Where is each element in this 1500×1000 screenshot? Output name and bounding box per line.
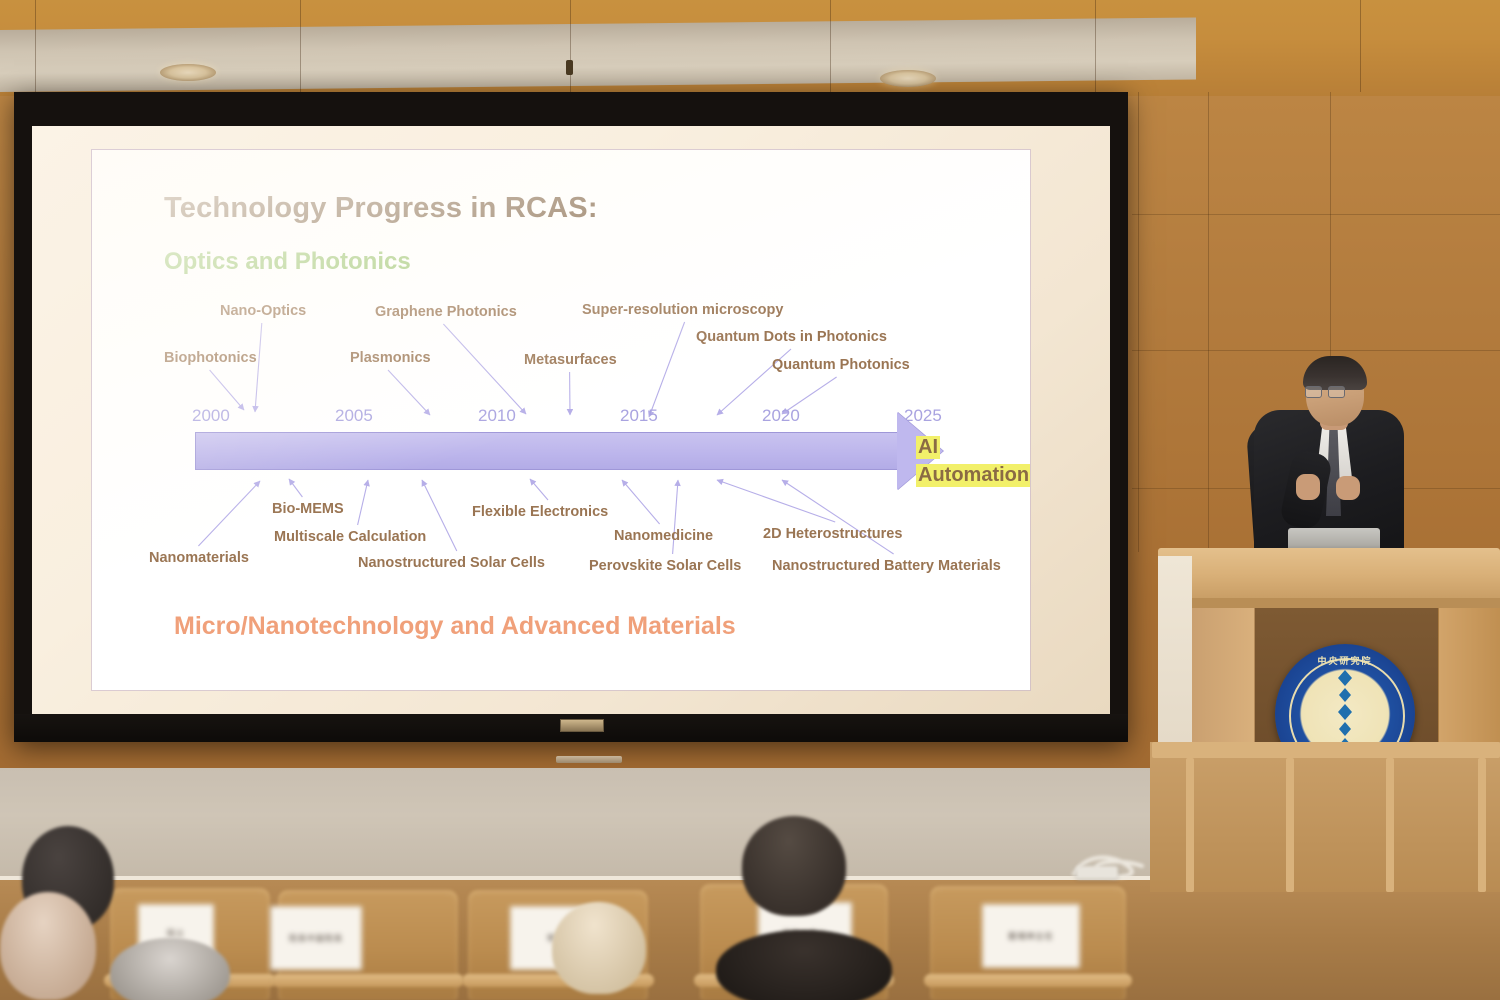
timeline-arrow-bar xyxy=(195,432,905,470)
speaker-hand-left xyxy=(1296,474,1320,500)
timeline-label: 2D Heterostructures xyxy=(763,526,902,542)
timeline-year-2000: 2000 xyxy=(192,406,230,426)
wall-seam xyxy=(1132,214,1500,215)
seat-name-placard: 院長中副院長 xyxy=(270,906,362,970)
chair-armrest xyxy=(924,974,1132,987)
railing-post xyxy=(1478,758,1486,892)
ceiling-sensor-icon xyxy=(566,60,573,75)
slide-subtitle-nanotech: Micro/Nanotechnology and Advanced Materi… xyxy=(174,612,736,641)
audience-head xyxy=(716,930,892,1000)
ceiling-soffit xyxy=(0,17,1196,92)
timeline-label: Quantum Photonics xyxy=(772,357,910,373)
highlight-ai: AI xyxy=(916,436,940,459)
railing-post xyxy=(1386,758,1394,892)
timeline-year-2015: 2015 xyxy=(620,406,658,426)
ceiling-seam xyxy=(1095,0,1096,92)
wall-seam xyxy=(1132,350,1500,351)
highlight-automation: Automation xyxy=(916,464,1030,487)
screen-brand-badge xyxy=(560,719,604,732)
timeline-label: Nano-Optics xyxy=(220,303,306,319)
timeline-label: Multiscale Calculation xyxy=(274,529,426,545)
seat-name-placard: 觀場神主任 xyxy=(982,904,1080,968)
timeline-label: Biophotonics xyxy=(164,350,257,366)
timeline-label: Metasurfaces xyxy=(524,352,617,368)
ceiling-seam xyxy=(570,0,571,92)
audience-head xyxy=(552,902,646,994)
timeline-label: Plasmonics xyxy=(350,350,431,366)
screen-wall-mount xyxy=(556,756,622,763)
timeline-label: Nanomaterials xyxy=(149,550,249,566)
seal-text-chinese: 中央研究院 xyxy=(1275,654,1415,667)
presentation-slide: Technology Progress in RCAS: Optics and … xyxy=(92,150,1030,690)
wall-seam xyxy=(1138,92,1139,552)
ceiling-downlight xyxy=(160,64,216,81)
slide-subtitle-optics: Optics and Photonics xyxy=(164,248,411,276)
timeline-label: Nanostructured Solar Cells xyxy=(358,555,545,571)
audience-head xyxy=(0,892,96,1000)
podium-top-lip xyxy=(1158,598,1500,608)
timeline-year-2020: 2020 xyxy=(762,406,800,426)
timeline-label: Flexible Electronics xyxy=(472,504,608,520)
ceiling-seam xyxy=(830,0,831,92)
timeline-year-2010: 2010 xyxy=(478,406,516,426)
timeline-label: Bio-MEMS xyxy=(272,501,344,517)
timeline-label: Quantum Dots in Photonics xyxy=(696,329,887,345)
railing-post xyxy=(1286,758,1294,892)
ceiling-seam xyxy=(300,0,301,92)
slide-title: Technology Progress in RCAS: xyxy=(164,192,598,225)
audience-head xyxy=(742,816,846,916)
timeline-label: Graphene Photonics xyxy=(375,304,517,320)
chair-armrest xyxy=(272,974,464,987)
timeline-label: Nanostructured Battery Materials xyxy=(772,558,1001,574)
power-strip xyxy=(1076,866,1118,879)
podium-top-surface xyxy=(1158,548,1500,604)
wall-seam xyxy=(1208,92,1209,552)
eyeglasses-icon xyxy=(1305,386,1343,396)
timeline-label: Nanomedicine xyxy=(614,528,713,544)
speaker-hand-right xyxy=(1336,476,1360,500)
stage-railing xyxy=(1150,742,1500,892)
railing-top-bar xyxy=(1152,742,1500,758)
rear-wall xyxy=(0,768,1160,886)
screenshot-root: Technology Progress in RCAS: Optics and … xyxy=(0,0,1500,1000)
timeline-label: Perovskite Solar Cells xyxy=(589,558,741,574)
ceiling-seam xyxy=(35,0,36,92)
ceiling-downlight xyxy=(880,70,936,87)
audience-head xyxy=(110,938,230,1000)
timeline-year-2005: 2005 xyxy=(335,406,373,426)
slide-glare xyxy=(92,150,1030,690)
ceiling-seam xyxy=(1360,0,1361,92)
timeline-label: Super-resolution microscopy xyxy=(582,302,783,318)
timeline-connector-arrows xyxy=(92,150,1030,690)
railing-post xyxy=(1186,758,1194,892)
